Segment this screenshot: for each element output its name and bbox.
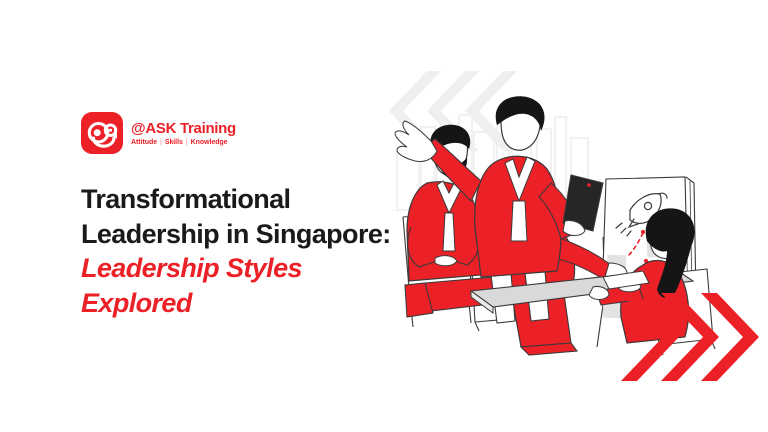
tagline-part-skills: Skills bbox=[165, 139, 183, 147]
brand-name: @ASK Training bbox=[131, 121, 236, 137]
headline-primary: Transformational Leadership in Singapore… bbox=[81, 184, 391, 249]
business-team-meeting-illustration bbox=[375, 55, 765, 395]
brand-lockup[interactable]: @ASK Training Attitude | Skills | Knowle… bbox=[81, 112, 236, 154]
tagline-part-knowledge: Knowledge bbox=[191, 139, 228, 147]
page-title: Transformational Leadership in Singapore… bbox=[81, 182, 411, 320]
tagline-separator-2: | bbox=[186, 139, 188, 147]
tagline-part-attitude: Attitude bbox=[131, 139, 157, 147]
ask-training-at-smiley-icon bbox=[81, 112, 123, 154]
headline-accent: Leadership Styles Explored bbox=[81, 253, 302, 318]
promo-banner: @ASK Training Attitude | Skills | Knowle… bbox=[0, 0, 768, 432]
brand-tagline: Attitude | Skills | Knowledge bbox=[131, 139, 236, 147]
brand-wordmark: @ASK Training Attitude | Skills | Knowle… bbox=[131, 120, 236, 146]
tagline-separator-1: | bbox=[160, 139, 162, 147]
